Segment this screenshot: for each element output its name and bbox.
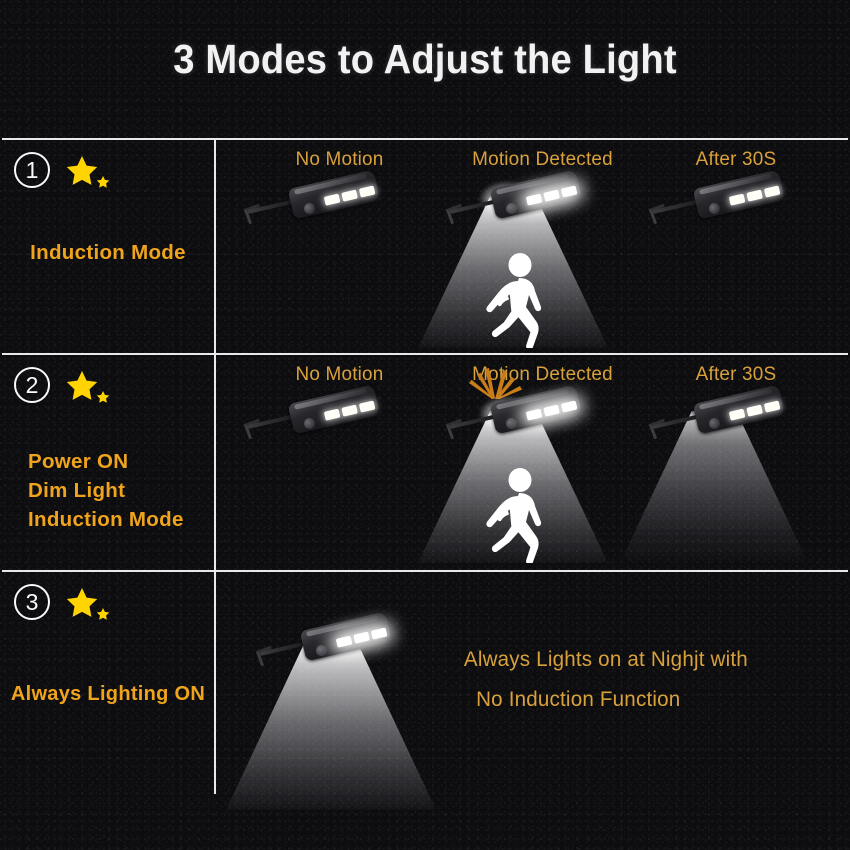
mode-number-badge: 1: [14, 152, 50, 188]
mode-number-badge: 3: [14, 584, 50, 620]
lamp-fixture-unlit: [246, 175, 378, 235]
mode-label-line-3: Induction Mode: [2, 505, 214, 534]
mode-number-badge: 2: [14, 367, 50, 403]
mode-label: Always Lighting ON: [2, 680, 214, 709]
mode-label-cell-1: 1 Induction Mode: [2, 140, 214, 353]
moon-star-icon: [57, 580, 149, 658]
always-on-caption-line-2: No Induction Function: [476, 680, 680, 720]
table-row: 3 Always Lighting ON Always Lights: [2, 572, 848, 798]
mode-label-line-1: Power ON: [2, 447, 214, 476]
mode-states-cell-1: No Motion Motion Detected After 30S: [216, 140, 848, 353]
mode-states-cell-3: Always Lights on at Nighjt with No Induc…: [216, 572, 848, 798]
lamp-fixture-lit: [448, 390, 580, 450]
mode-label-cell-3: 3 Always Lighting ON: [2, 572, 214, 798]
lamp-fixture-lit: [258, 617, 390, 677]
lamp-fixture-lit: [448, 175, 580, 235]
table-row: 2 Power ON Dim Light Induction Mode No M…: [2, 355, 848, 570]
column-header-no-motion: No Motion: [235, 148, 444, 171]
always-on-caption-line-1: Always Lights on at Nighjt with: [464, 640, 748, 680]
column-header-after-30s: After 30S: [639, 148, 833, 171]
modes-table: 1 Induction Mode No Motion Motion Detect…: [2, 138, 848, 798]
running-person-icon: [478, 467, 564, 563]
lamp-fixture-unlit: [651, 175, 783, 235]
lamp-fixture-dim: [651, 390, 783, 450]
mode-label-line-2: Dim Light: [2, 476, 214, 505]
column-header-after-30s: After 30S: [639, 363, 833, 386]
column-header-no-motion: No Motion: [235, 363, 444, 386]
lamp-fixture-dim: [246, 390, 378, 450]
infographic-stage: 3 Modes to Adjust the Light 1 Induction …: [0, 0, 850, 850]
mode-label-cell-2: 2 Power ON Dim Light Induction Mode: [2, 355, 214, 570]
column-header-motion-detected: Motion Detected: [438, 148, 647, 171]
moon-star-icon: [57, 363, 149, 441]
mode-label: Induction Mode: [2, 238, 214, 267]
page-title: 3 Modes to Adjust the Light: [30, 36, 821, 83]
mode-states-cell-2: No Motion Motion Detected After 30S: [216, 355, 848, 570]
moon-star-icon: [57, 148, 149, 226]
running-person-icon: [478, 252, 564, 348]
table-row: 1 Induction Mode No Motion Motion Detect…: [2, 140, 848, 353]
